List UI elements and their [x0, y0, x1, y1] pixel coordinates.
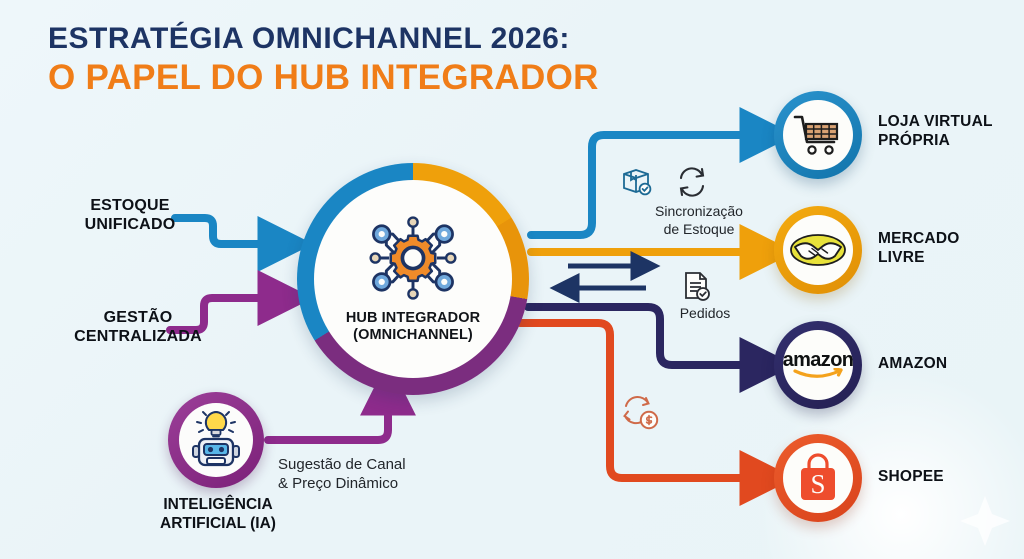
- box-check-icon: [624, 170, 650, 194]
- input-label-estoque-unificado: ESTOQUE UNIFICADO: [40, 196, 220, 234]
- amazon-wordmark-icon: amazon: [783, 350, 853, 370]
- sync-money-icon: [625, 397, 658, 428]
- sparkle-icon: [960, 496, 1010, 546]
- hub-inner: HUB INTEGRADOR (OMNICHANNEL): [314, 180, 512, 378]
- channel-1-line-2: PRÓPRIA: [878, 132, 1018, 151]
- channel-2-line-1: MERCADO: [878, 230, 1008, 249]
- infographic-canvas: ESTRATÉGIA OMNICHANNEL 2026: O PAPEL DO …: [0, 0, 1024, 559]
- input-gestao-line-1: GESTÃO: [40, 308, 236, 327]
- channel-label-amazon: AMAZON: [878, 355, 1008, 374]
- ai-flow-note: Sugestão de Canal & Preço Dinâmico: [278, 455, 468, 493]
- pedidos-bidirectional-arrows: [568, 266, 646, 288]
- ai-label-line-2: ARTIFICIAL (IA): [118, 515, 318, 534]
- ai-note-line-2: & Preço Dinâmico: [278, 474, 468, 493]
- shopee-letter-s: S: [810, 469, 825, 499]
- network-gear-icon: [357, 212, 469, 304]
- document-check-icon: [686, 273, 709, 300]
- annotation-pedidos-line-1: Pedidos: [660, 305, 750, 323]
- annotation-sincronizacao-estoque: Sincronização de Estoque: [634, 203, 764, 238]
- hub-label: HUB INTEGRADOR (OMNICHANNEL): [346, 310, 480, 344]
- sync-arrows-icon: [681, 168, 703, 195]
- handshake-icon: [789, 230, 847, 270]
- page-title: ESTRATÉGIA OMNICHANNEL 2026: O PAPEL DO …: [48, 22, 599, 97]
- channel-4-line-1: SHOPEE: [878, 468, 1008, 487]
- connector-ai-to-hub: [268, 398, 388, 440]
- ai-inner: [179, 403, 253, 477]
- title-line-2: O PAPEL DO HUB INTEGRADOR: [48, 58, 599, 97]
- hub-node[interactable]: HUB INTEGRADOR (OMNICHANNEL): [297, 163, 529, 395]
- channel-inner-amazon: amazon: [783, 330, 853, 400]
- hub-label-line-2: (OMNICHANNEL): [346, 327, 480, 344]
- channel-node-amazon[interactable]: amazon: [774, 321, 862, 409]
- ai-label-line-1: INTELIGÊNCIA: [118, 496, 318, 515]
- channel-inner-loja-virtual: [783, 100, 853, 170]
- channel-node-mercado-livre[interactable]: [774, 206, 862, 294]
- shopee-bag-icon: S: [794, 452, 842, 504]
- ai-note-line-1: Sugestão de Canal: [278, 455, 468, 474]
- channel-3-line-1: AMAZON: [878, 355, 1008, 374]
- channel-node-loja-virtual-propria[interactable]: [774, 91, 862, 179]
- hub-label-line-1: HUB INTEGRADOR: [346, 310, 480, 327]
- annotation-pedidos: Pedidos: [660, 305, 750, 323]
- input-label-gestao-centralizada: GESTÃO CENTRALIZADA: [40, 308, 236, 346]
- channel-2-line-2: LIVRE: [878, 249, 1008, 268]
- title-line-1: ESTRATÉGIA OMNICHANNEL 2026:: [48, 22, 599, 56]
- amazon-smile-icon: [791, 368, 845, 381]
- input-estoque-line-2: UNIFICADO: [40, 215, 220, 234]
- robot-lightbulb-icon: [186, 409, 246, 471]
- channel-label-shopee: SHOPEE: [878, 468, 1008, 487]
- channel-1-line-1: LOJA VIRTUAL: [878, 113, 1018, 132]
- channel-inner-shopee: S: [783, 443, 853, 513]
- ai-node-label: INTELIGÊNCIA ARTIFICIAL (IA): [118, 496, 318, 533]
- annotation-sincronizacao-line-1: Sincronização: [634, 203, 764, 221]
- channel-node-shopee[interactable]: S: [774, 434, 862, 522]
- channel-label-loja-virtual-propria: LOJA VIRTUAL PRÓPRIA: [878, 113, 1018, 150]
- input-gestao-line-2: CENTRALIZADA: [40, 327, 236, 346]
- connector-hub-to-shopee: [520, 323, 757, 478]
- channel-inner-mercado-livre: [783, 215, 853, 285]
- input-estoque-line-1: ESTOQUE: [40, 196, 220, 215]
- annotation-sincronizacao-line-2: de Estoque: [634, 221, 764, 239]
- shopping-cart-icon: [793, 113, 843, 157]
- channel-label-mercado-livre: MERCADO LIVRE: [878, 230, 1008, 267]
- ai-node[interactable]: [168, 392, 264, 488]
